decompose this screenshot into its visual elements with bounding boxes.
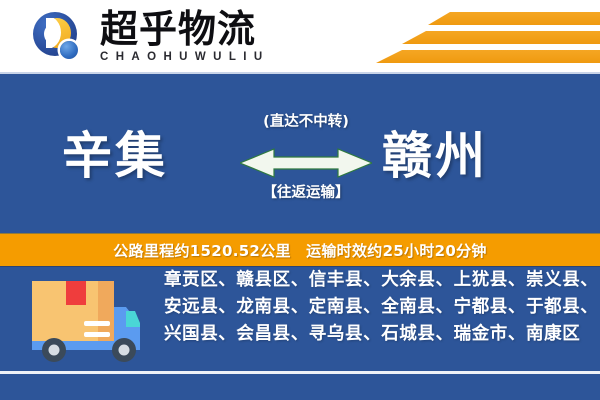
destination-city: 赣州 bbox=[382, 116, 488, 188]
stripe-3 bbox=[376, 50, 600, 63]
coverage-line-2: 安远县、龙南县、定南县、全南县、宁都县、于都县、 bbox=[164, 294, 584, 321]
route-info-text: 公路里程约1520.52公里 运输时效约25小时20分钟 bbox=[113, 240, 486, 261]
logistics-route-banner: 超乎物流 CHAOHUWULIU 辛集 (直达不中转) 【往返运输】 bbox=[0, 0, 600, 400]
coverage-line-1: 章贡区、赣县区、信丰县、大余县、上犹县、崇义县、 bbox=[164, 267, 584, 294]
route-info-bar: 公路里程约1520.52公里 运输时效约25小时20分钟 bbox=[0, 233, 600, 267]
brand-block: 超乎物流 CHAOHUWULIU bbox=[100, 8, 270, 63]
brand-name-cn: 超乎物流 bbox=[100, 8, 270, 50]
stripe-1 bbox=[428, 12, 600, 25]
decorative-stripes bbox=[340, 10, 600, 68]
origin-city: 辛集 bbox=[62, 116, 168, 188]
logo-dot-icon bbox=[60, 41, 78, 59]
route-row: 辛集 (直达不中转) 【往返运输】 赣州 bbox=[0, 72, 600, 234]
company-logo bbox=[33, 12, 91, 66]
route-tag-roundtrip: 【往返运输】 bbox=[238, 181, 374, 202]
banner-header: 超乎物流 CHAOHUWULIU bbox=[0, 0, 600, 72]
stripe-2 bbox=[402, 31, 600, 44]
coverage-section: 章贡区、赣县区、信丰县、大余县、上犹县、崇义县、 安远县、龙南县、定南县、全南县… bbox=[0, 267, 600, 371]
bottom-divider bbox=[0, 371, 600, 374]
route-note-direct: (直达不中转) bbox=[238, 110, 374, 131]
bidirectional-arrow-icon bbox=[240, 136, 372, 180]
delivery-truck-icon bbox=[22, 271, 146, 367]
coverage-line-3: 兴国县、会昌县、寻乌县、石城县、瑞金市、南康区 bbox=[164, 321, 584, 348]
brand-name-en: CHAOHUWULIU bbox=[100, 51, 270, 63]
banner-body: 辛集 (直达不中转) 【往返运输】 赣州 公路里程约1520.52公里 运输时效… bbox=[0, 72, 600, 400]
route-arrow-group: (直达不中转) 【往返运输】 bbox=[238, 110, 374, 202]
coverage-area-list: 章贡区、赣县区、信丰县、大余县、上犹县、崇义县、 安远县、龙南县、定南县、全南县… bbox=[164, 267, 584, 348]
